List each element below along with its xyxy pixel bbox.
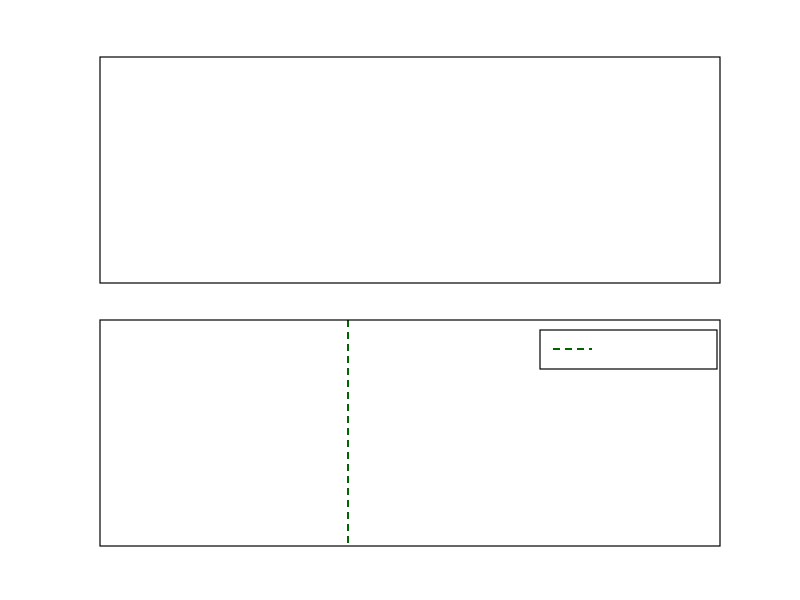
matplotlib-figure	[0, 0, 800, 600]
top-subplot-histogram	[100, 57, 720, 283]
bottom-subplot-cumulative	[100, 320, 720, 546]
top-axes-frame	[100, 57, 720, 283]
legend[interactable]	[540, 330, 717, 369]
figure-canvas	[0, 0, 800, 600]
